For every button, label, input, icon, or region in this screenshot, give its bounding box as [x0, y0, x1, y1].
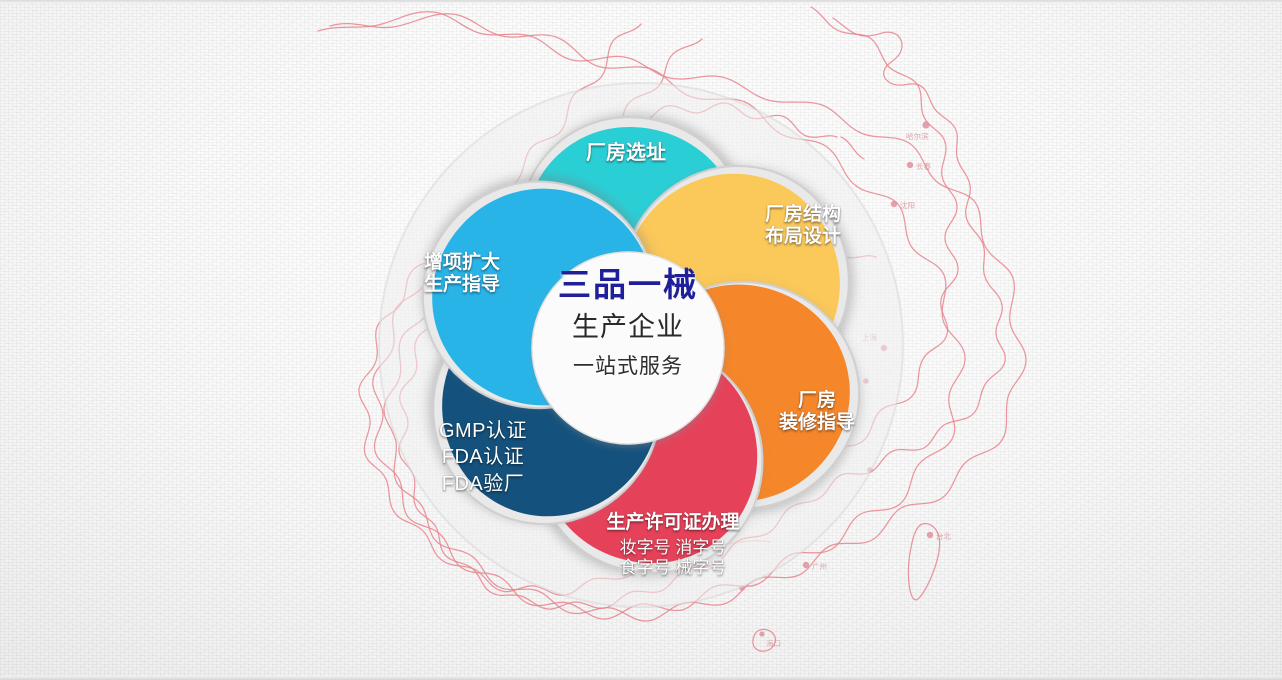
infographic-canvas: 哈尔滨 长春 沈阳 上海 广州 台北 海口: [0, 0, 1282, 680]
center-disc: [532, 252, 724, 444]
pinwheel-diagram: [0, 0, 1282, 680]
